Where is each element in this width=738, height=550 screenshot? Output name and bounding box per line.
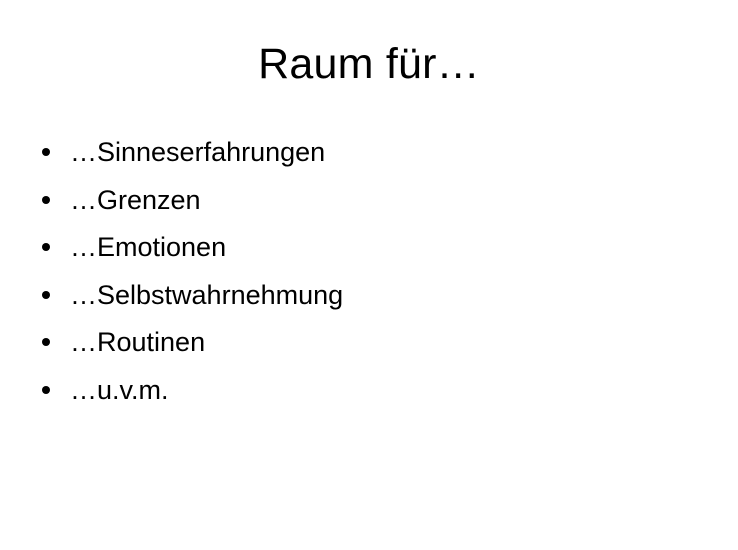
list-item: …Routinen [0, 322, 738, 370]
list-item: …Selbstwahrnehmung [0, 275, 738, 323]
list-item-label: …Grenzen [70, 180, 201, 220]
bullet-dot-icon [42, 148, 50, 156]
list-item: …Grenzen [0, 180, 738, 228]
bullet-dot-icon [42, 338, 50, 346]
list-item-label: …u.v.m. [70, 370, 169, 410]
list-item-label: …Routinen [70, 322, 205, 362]
page-title: Raum für… [0, 42, 738, 87]
bullet-dot-icon [42, 291, 50, 299]
bullet-dot-icon [42, 386, 50, 394]
list-item-label: …Selbstwahrnehmung [70, 275, 343, 315]
list-item: …u.v.m. [0, 370, 738, 418]
list-item: …Emotionen [0, 227, 738, 275]
bullet-dot-icon [42, 196, 50, 204]
bullet-list: …Sinneserfahrungen …Grenzen …Emotionen …… [0, 132, 738, 417]
presentation-slide: Raum für… …Sinneserfahrungen …Grenzen …E… [0, 0, 738, 550]
list-item-label: …Sinneserfahrungen [70, 132, 325, 172]
bullet-dot-icon [42, 243, 50, 251]
list-item-label: …Emotionen [70, 227, 226, 267]
list-item: …Sinneserfahrungen [0, 132, 738, 180]
